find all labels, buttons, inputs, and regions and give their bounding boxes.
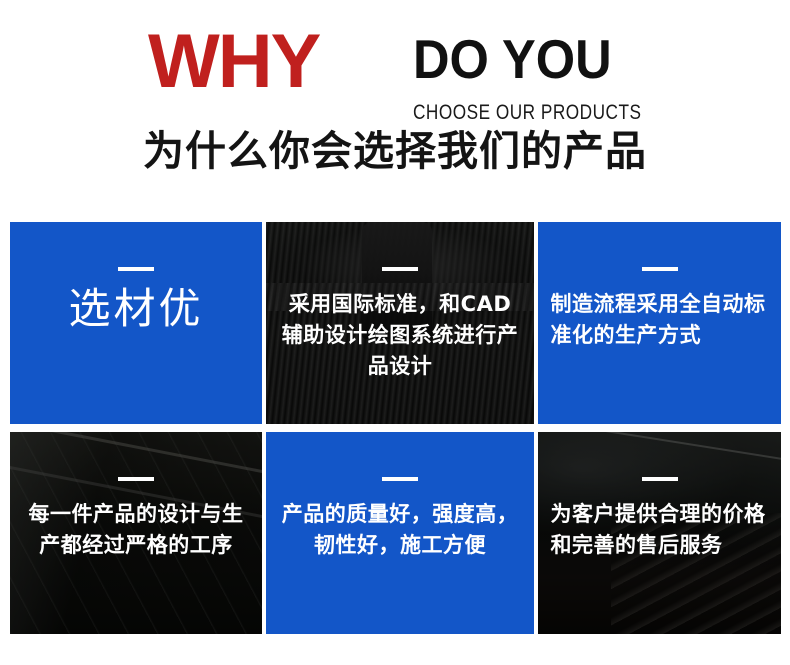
divider-dash-icon [118,477,154,481]
feature-card-text: 制造流程采用全自动标准化的生产方式 [551,289,769,351]
headline-why: WHY [148,24,319,100]
headline-tagline: CHOOSE OUR PRODUCTS [413,102,641,123]
banner-header: WHY DO YOU CHOOSE OUR PRODUCTS 为什么你会选择我们… [0,0,790,200]
headline-subtitle-chinese: 为什么你会选择我们的产品 [0,126,790,176]
divider-dash-icon [382,267,418,271]
divider-dash-icon [382,477,418,481]
feature-card-product-quality[interactable]: 产品的质量好，强度高，韧性好，施工方便 [266,432,534,634]
divider-dash-icon [642,477,678,481]
feature-card-international-standard[interactable]: 采用国际标准，和CAD辅助设计绘图系统进行产品设计 [266,222,534,424]
headline-do-you: DO YOU [413,32,612,87]
feature-card-material-selection[interactable]: 选材优 [10,222,262,424]
feature-card-text: 选材优 [54,283,217,335]
divider-dash-icon [118,267,154,271]
divider-dash-icon [642,267,678,271]
feature-card-automated-manufacturing[interactable]: 制造流程采用全自动标准化的生产方式 [538,222,781,424]
feature-card-grid: 选材优 采用国际标准，和CAD辅助设计绘图系统进行产品设计 制造流程采用全自动标… [10,222,781,638]
headline-row: WHY DO YOU CHOOSE OUR PRODUCTS [0,18,790,96]
feature-card-after-sales[interactable]: 为客户提供合理的价格和完善的售后服务 [538,432,781,634]
feature-card-text: 每一件产品的设计与生产都经过严格的工序 [10,499,262,561]
promo-banner: WHY DO YOU CHOOSE OUR PRODUCTS 为什么你会选择我们… [0,0,790,665]
feature-card-strict-process[interactable]: 每一件产品的设计与生产都经过严格的工序 [10,432,262,634]
feature-card-text: 为客户提供合理的价格和完善的售后服务 [551,499,769,561]
feature-card-text: 产品的质量好，强度高，韧性好，施工方便 [266,499,534,561]
feature-card-text: 采用国际标准，和CAD辅助设计绘图系统进行产品设计 [266,289,534,382]
